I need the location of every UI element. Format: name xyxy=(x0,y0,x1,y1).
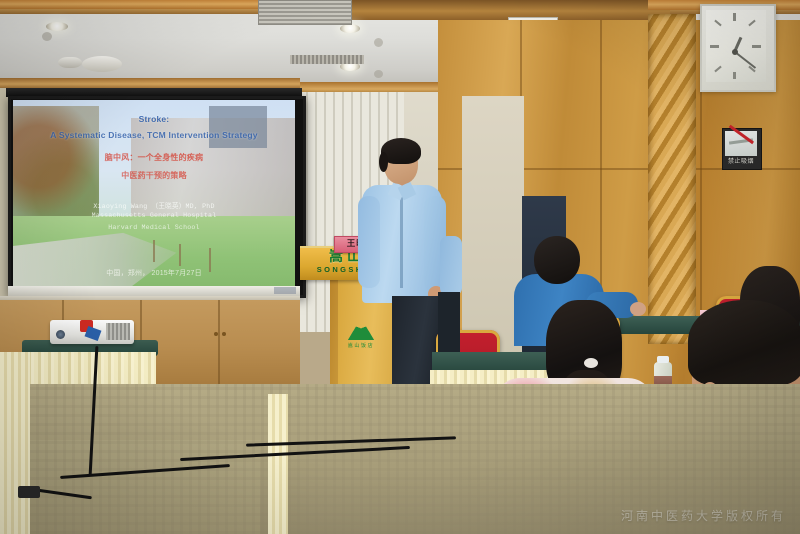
cabinet-knob[interactable] xyxy=(214,332,218,336)
ceiling-vent xyxy=(258,0,352,25)
projection-screen-brand-mark xyxy=(274,287,296,294)
audience-man-hair xyxy=(688,300,800,386)
ceiling-downlight-rim xyxy=(374,70,383,78)
slide-author-affiliation-1: Massachusetts General Hospital xyxy=(13,212,295,219)
projection-screen-slide: Stroke: A Systematic Disease, TCM Interv… xyxy=(13,100,295,287)
table-skirt-left xyxy=(0,352,30,534)
speaker-arm-left xyxy=(358,196,380,288)
projector-lens xyxy=(56,330,65,339)
ceiling-grille xyxy=(290,55,364,64)
speaker-shirt-placket xyxy=(400,192,403,288)
slide-chinese-line-2: 中医药干预的策略 xyxy=(13,170,295,181)
hair-clip xyxy=(584,358,598,368)
ceiling-soffit-center xyxy=(330,0,670,20)
ceiling-downlight xyxy=(340,24,360,33)
no-smoking-label: 禁止吸烟 xyxy=(722,157,760,168)
clock-tick xyxy=(733,72,736,79)
slide-chinese-line-1: 脑中风：一个全身性的疾病 xyxy=(13,152,295,163)
slide-date-line: 中国，郑州， 2015年7月27日 xyxy=(13,268,295,278)
cabinet-knob[interactable] xyxy=(222,332,226,336)
podium-logo-label: 嵩山饭店 xyxy=(341,342,381,350)
power-strip[interactable] xyxy=(18,486,40,498)
ceiling-downlight-rim xyxy=(42,32,52,41)
clock-tick xyxy=(733,13,736,21)
speaker-hair-side xyxy=(379,152,388,172)
clock-tick xyxy=(710,45,719,48)
ceiling-sensor xyxy=(58,57,82,68)
fluted-column xyxy=(648,14,696,344)
slide-fence-post xyxy=(179,244,181,266)
clock-center-pin xyxy=(732,49,738,55)
slide-author-name: Xiaoying Wang （王晓英）MD, PhD xyxy=(13,200,295,210)
audience-person-head xyxy=(534,236,580,284)
projector-vent xyxy=(106,323,130,340)
projection-screen-bottom-bar xyxy=(8,286,300,296)
slide-title-line-1: Stroke: xyxy=(13,114,295,124)
clock-tick xyxy=(752,45,761,48)
slide-background-building-tower xyxy=(209,106,267,148)
slide-fence-post xyxy=(153,240,155,262)
table-skirt-center xyxy=(268,394,288,534)
slide-author-affiliation-2: Harvard Medical School xyxy=(13,224,295,231)
ceiling-speaker xyxy=(82,56,122,72)
ceiling-downlight xyxy=(46,22,68,31)
slide-title-line-2: A Systematic Disease, TCM Intervention S… xyxy=(13,130,295,140)
conference-photo: 禁止吸烟 Stroke: A Systematic Disease, TCM I… xyxy=(0,0,800,534)
audience-person-hand xyxy=(630,302,646,316)
ceiling-downlight-rim xyxy=(374,38,383,47)
water-bottle-cap[interactable] xyxy=(657,356,669,363)
copyright-watermark: 河南中医药大学版权所有 xyxy=(621,507,786,524)
cabinet-seam xyxy=(218,300,220,384)
standing-person-arm xyxy=(440,236,462,296)
